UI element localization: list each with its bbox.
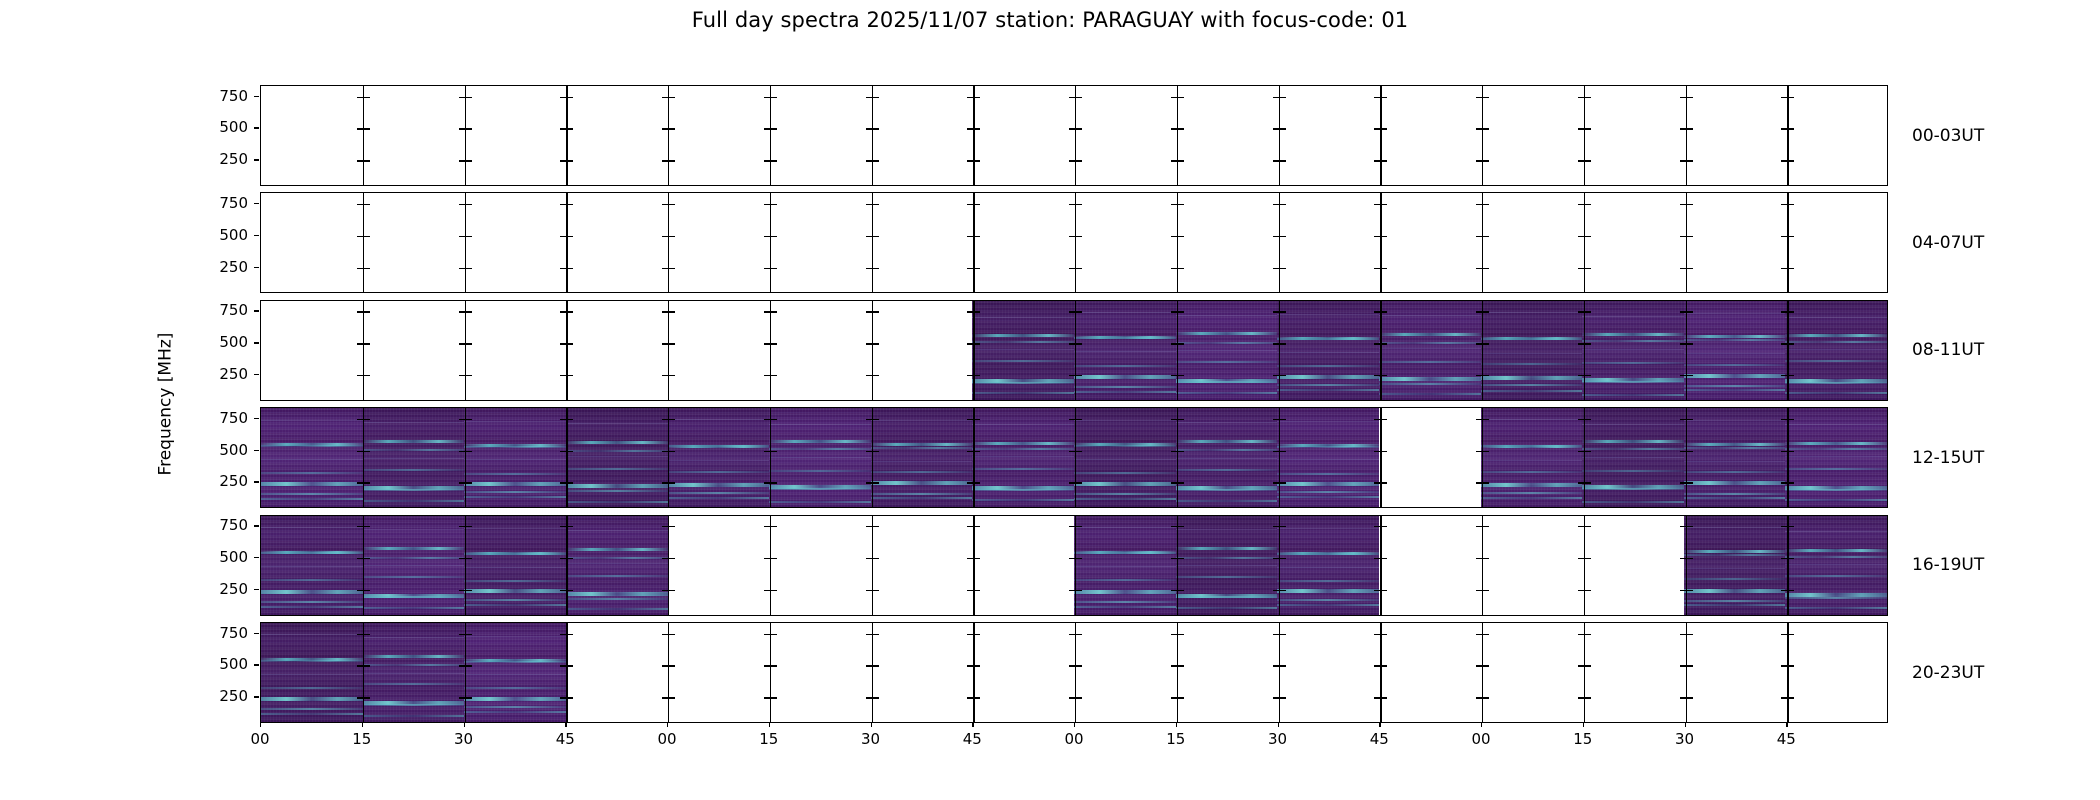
spectra-texture-noise bbox=[769, 408, 871, 507]
y-tick-mark bbox=[1585, 160, 1591, 161]
y-tick-mark bbox=[1585, 697, 1591, 698]
x-tick-label: 00 bbox=[250, 730, 269, 748]
y-tick-mark bbox=[1381, 204, 1387, 205]
spectra-panel bbox=[972, 408, 1074, 507]
panel-separator bbox=[363, 623, 364, 722]
y-tick-mark bbox=[1483, 558, 1489, 559]
spectra-texture-noise bbox=[1074, 516, 1176, 615]
y-tick-mark bbox=[364, 204, 370, 205]
y-tick-mark bbox=[357, 634, 363, 635]
y-tick-mark bbox=[364, 128, 370, 129]
y-tick-mark bbox=[1076, 451, 1082, 452]
y-tick-mark bbox=[1381, 343, 1387, 344]
y-tick-mark bbox=[662, 451, 668, 452]
y-tick-mark bbox=[560, 343, 566, 344]
y-tick-mark bbox=[669, 697, 675, 698]
y-tick-mark bbox=[1680, 697, 1686, 698]
y-tick-mark bbox=[1483, 482, 1489, 483]
y-tick-mark bbox=[1476, 236, 1482, 237]
empty-panel bbox=[1277, 193, 1379, 292]
panel-separator bbox=[1787, 301, 1788, 400]
y-tick-mark bbox=[1273, 451, 1279, 452]
y-tick-label: 250 bbox=[206, 150, 248, 168]
y-tick-mark bbox=[254, 342, 259, 343]
panel-separator bbox=[668, 301, 669, 400]
y-tick-mark bbox=[866, 311, 872, 312]
y-tick-mark bbox=[1781, 236, 1787, 237]
y-tick-mark bbox=[560, 451, 566, 452]
empty-panel bbox=[464, 86, 566, 185]
row-label-08-11ut: 08-11UT bbox=[1912, 340, 1984, 360]
y-tick-mark bbox=[764, 268, 770, 269]
y-tick-mark bbox=[967, 558, 973, 559]
y-tick-mark bbox=[866, 526, 872, 527]
y-tick-mark bbox=[1069, 590, 1075, 591]
y-tick-mark bbox=[466, 697, 472, 698]
spectra-texture-noise bbox=[566, 516, 668, 615]
y-tick-mark bbox=[669, 590, 675, 591]
row-panels bbox=[261, 301, 1887, 400]
y-tick-mark bbox=[1273, 482, 1279, 483]
y-tick-mark bbox=[1178, 97, 1184, 98]
panel-separator bbox=[1177, 408, 1178, 507]
y-tick-mark bbox=[764, 590, 770, 591]
y-tick-mark bbox=[1781, 268, 1787, 269]
y-tick-mark bbox=[1374, 482, 1380, 483]
y-tick-mark bbox=[1578, 697, 1584, 698]
spectra-row-20-23ut bbox=[260, 622, 1888, 723]
panel-separator bbox=[1279, 86, 1280, 185]
panel-separator bbox=[1380, 301, 1381, 400]
y-tick-mark bbox=[1788, 451, 1794, 452]
spectra-panel bbox=[261, 516, 363, 615]
y-tick-mark bbox=[1687, 697, 1693, 698]
y-tick-mark bbox=[364, 665, 370, 666]
panel-separator bbox=[1482, 623, 1483, 722]
y-tick-mark bbox=[764, 697, 770, 698]
y-tick-mark bbox=[357, 590, 363, 591]
panel-separator bbox=[465, 301, 466, 400]
empty-panel bbox=[464, 301, 566, 400]
y-tick-mark bbox=[567, 311, 573, 312]
y-tick-mark bbox=[1171, 311, 1177, 312]
y-tick-mark bbox=[1680, 665, 1686, 666]
y-tick-mark bbox=[1585, 451, 1591, 452]
y-tick-mark bbox=[1381, 236, 1387, 237]
y-tick-mark bbox=[459, 204, 465, 205]
y-tick-mark bbox=[459, 268, 465, 269]
y-tick-mark bbox=[866, 665, 872, 666]
panel-separator bbox=[566, 408, 567, 507]
x-tick-label: 00 bbox=[1471, 730, 1490, 748]
spectra-panel bbox=[1074, 408, 1176, 507]
y-tick-mark bbox=[1483, 343, 1489, 344]
y-tick-mark bbox=[560, 128, 566, 129]
empty-panel bbox=[566, 193, 668, 292]
y-tick-mark bbox=[1076, 665, 1082, 666]
y-tick-mark bbox=[466, 634, 472, 635]
y-tick-mark bbox=[466, 451, 472, 452]
y-tick-mark bbox=[1680, 634, 1686, 635]
spectra-texture-noise bbox=[1176, 516, 1278, 615]
spectra-texture-noise bbox=[261, 623, 363, 722]
y-tick-mark bbox=[1171, 558, 1177, 559]
panel-separator bbox=[973, 516, 974, 615]
spectra-texture-noise bbox=[1785, 408, 1887, 507]
y-tick-mark bbox=[662, 558, 668, 559]
panel-separator bbox=[1787, 408, 1788, 507]
y-tick-mark bbox=[1076, 268, 1082, 269]
y-tick-mark bbox=[254, 481, 259, 482]
x-tick-mark bbox=[1786, 722, 1787, 727]
y-tick-mark bbox=[1374, 665, 1380, 666]
y-tick-mark bbox=[1680, 236, 1686, 237]
empty-panel bbox=[1176, 193, 1278, 292]
spectra-texture-noise bbox=[1074, 408, 1176, 507]
y-tick-mark bbox=[967, 311, 973, 312]
panel-separator bbox=[465, 516, 466, 615]
y-tick-mark bbox=[459, 665, 465, 666]
y-tick-mark bbox=[1178, 311, 1184, 312]
empty-panel bbox=[871, 301, 973, 400]
y-tick-mark bbox=[560, 204, 566, 205]
y-tick-mark bbox=[357, 204, 363, 205]
y-tick-mark bbox=[1280, 128, 1286, 129]
y-tick-mark bbox=[1178, 697, 1184, 698]
y-tick-mark bbox=[1171, 375, 1177, 376]
y-tick-mark bbox=[1069, 204, 1075, 205]
y-tick-mark bbox=[1585, 419, 1591, 420]
y-tick-mark bbox=[967, 697, 973, 698]
panel-separator bbox=[1380, 193, 1381, 292]
panel-separator bbox=[566, 193, 567, 292]
y-tick-mark bbox=[1687, 204, 1693, 205]
y-tick-label: 250 bbox=[206, 687, 248, 705]
y-tick-mark bbox=[1781, 343, 1787, 344]
y-tick-mark bbox=[1069, 665, 1075, 666]
y-tick-mark bbox=[357, 160, 363, 161]
y-tick-mark bbox=[567, 482, 573, 483]
y-tick-mark bbox=[1178, 236, 1184, 237]
y-tick-mark bbox=[254, 633, 259, 634]
y-tick-mark bbox=[974, 419, 980, 420]
y-tick-mark bbox=[1483, 160, 1489, 161]
y-tick-mark bbox=[1483, 128, 1489, 129]
y-tick-mark bbox=[764, 634, 770, 635]
y-tick-mark bbox=[560, 482, 566, 483]
row-label-16-19ut: 16-19UT bbox=[1912, 555, 1984, 575]
y-tick-mark bbox=[873, 236, 879, 237]
y-tick-mark bbox=[1483, 419, 1489, 420]
y-tick-mark bbox=[1788, 268, 1794, 269]
y-tick-mark bbox=[1585, 558, 1591, 559]
y-tick-mark bbox=[662, 268, 668, 269]
y-tick-mark bbox=[771, 590, 777, 591]
y-tick-mark bbox=[1273, 590, 1279, 591]
y-tick-mark bbox=[1578, 419, 1584, 420]
panel-separator bbox=[1787, 623, 1788, 722]
y-tick-mark bbox=[669, 268, 675, 269]
y-tick-mark bbox=[967, 160, 973, 161]
y-tick-mark bbox=[866, 128, 872, 129]
y-axis-title: Frequency [MHz] bbox=[152, 85, 178, 722]
spectra-texture-noise bbox=[1176, 301, 1278, 400]
row-label-12-15ut: 12-15UT bbox=[1912, 448, 1984, 468]
y-tick-mark bbox=[771, 419, 777, 420]
spectra-panel bbox=[1684, 301, 1786, 400]
y-tick-mark bbox=[459, 97, 465, 98]
spectra-panel bbox=[769, 408, 871, 507]
panel-separator bbox=[668, 623, 669, 722]
y-tick-mark bbox=[1280, 375, 1286, 376]
y-tick-mark bbox=[866, 375, 872, 376]
x-tick-label: 45 bbox=[1777, 730, 1796, 748]
y-tick-mark bbox=[1076, 526, 1082, 527]
y-tick-mark bbox=[1687, 268, 1693, 269]
empty-panel bbox=[363, 301, 465, 400]
panel-separator bbox=[1075, 86, 1076, 185]
y-tick-mark bbox=[1578, 375, 1584, 376]
y-tick-mark bbox=[459, 482, 465, 483]
y-tick-mark bbox=[669, 419, 675, 420]
spectra-panel bbox=[1785, 408, 1887, 507]
y-tick-mark bbox=[466, 526, 472, 527]
y-tick-mark bbox=[1476, 419, 1482, 420]
y-tick-mark bbox=[764, 128, 770, 129]
y-tick-mark bbox=[1374, 375, 1380, 376]
y-tick-mark bbox=[1687, 343, 1693, 344]
y-tick-mark bbox=[967, 634, 973, 635]
y-tick-mark bbox=[1273, 128, 1279, 129]
y-tick-mark bbox=[1578, 343, 1584, 344]
y-tick-mark bbox=[866, 697, 872, 698]
y-tick-mark bbox=[357, 128, 363, 129]
y-tick-mark bbox=[873, 590, 879, 591]
panel-separator bbox=[1177, 86, 1178, 185]
x-tick-mark bbox=[972, 722, 973, 727]
y-tick-mark bbox=[771, 451, 777, 452]
panel-separator bbox=[1279, 516, 1280, 615]
y-tick-mark bbox=[1781, 451, 1787, 452]
y-tick-mark bbox=[1687, 590, 1693, 591]
y-tick-mark bbox=[771, 665, 777, 666]
empty-panel bbox=[769, 623, 871, 722]
y-tick-mark bbox=[357, 665, 363, 666]
panel-separator bbox=[363, 408, 364, 507]
y-tick-mark bbox=[459, 419, 465, 420]
panel-separator bbox=[1686, 193, 1687, 292]
y-tick-mark bbox=[1076, 419, 1082, 420]
y-tick-mark bbox=[466, 419, 472, 420]
spectra-row-04-07ut bbox=[260, 192, 1888, 293]
y-tick-mark bbox=[1687, 665, 1693, 666]
y-tick-mark bbox=[1381, 697, 1387, 698]
y-tick-mark bbox=[873, 634, 879, 635]
y-tick-mark bbox=[662, 97, 668, 98]
y-tick-mark bbox=[669, 343, 675, 344]
y-tick-mark bbox=[364, 482, 370, 483]
empty-panel bbox=[1785, 193, 1887, 292]
y-tick-mark bbox=[364, 268, 370, 269]
y-tick-mark bbox=[567, 665, 573, 666]
x-tick-mark bbox=[769, 722, 770, 727]
y-tick-mark bbox=[1476, 128, 1482, 129]
y-tick-mark bbox=[967, 204, 973, 205]
y-tick-label: 500 bbox=[206, 655, 248, 673]
y-tick-mark bbox=[1381, 526, 1387, 527]
y-tick-mark bbox=[1788, 311, 1794, 312]
y-tick-mark bbox=[669, 634, 675, 635]
y-tick-mark bbox=[1476, 482, 1482, 483]
y-tick-mark bbox=[1280, 482, 1286, 483]
y-tick-mark bbox=[1280, 590, 1286, 591]
panel-separator bbox=[1075, 516, 1076, 615]
y-tick-mark bbox=[1788, 634, 1794, 635]
y-tick-mark bbox=[1280, 97, 1286, 98]
y-tick-mark bbox=[1680, 128, 1686, 129]
y-tick-mark bbox=[669, 482, 675, 483]
y-tick-mark bbox=[1788, 375, 1794, 376]
panel-separator bbox=[1177, 301, 1178, 400]
y-tick-mark bbox=[764, 665, 770, 666]
y-tick-mark bbox=[1069, 343, 1075, 344]
y-tick-mark bbox=[669, 526, 675, 527]
spectra-panel bbox=[1684, 408, 1786, 507]
y-tick-mark bbox=[1578, 311, 1584, 312]
y-tick-mark bbox=[1280, 634, 1286, 635]
panel-separator bbox=[1686, 516, 1687, 615]
spectra-texture-noise bbox=[566, 408, 668, 507]
y-tick-mark bbox=[974, 526, 980, 527]
y-tick-mark bbox=[1280, 697, 1286, 698]
empty-panel bbox=[1379, 193, 1481, 292]
panel-separator bbox=[1686, 408, 1687, 507]
y-tick-mark bbox=[1069, 697, 1075, 698]
x-tick-label: 15 bbox=[1166, 730, 1185, 748]
y-tick-mark bbox=[1171, 97, 1177, 98]
y-tick-mark bbox=[254, 96, 259, 97]
panel-separator bbox=[973, 408, 974, 507]
y-tick-mark bbox=[669, 558, 675, 559]
y-tick-mark bbox=[1069, 311, 1075, 312]
y-tick-mark bbox=[364, 697, 370, 698]
y-tick-mark bbox=[1069, 558, 1075, 559]
row-label-04-07ut: 04-07UT bbox=[1912, 233, 1984, 253]
y-tick-mark bbox=[764, 204, 770, 205]
y-tick-mark bbox=[1069, 97, 1075, 98]
y-tick-mark bbox=[567, 128, 573, 129]
y-tick-mark bbox=[1680, 343, 1686, 344]
y-tick-mark bbox=[1171, 160, 1177, 161]
y-tick-mark bbox=[1781, 482, 1787, 483]
y-tick-mark bbox=[1273, 311, 1279, 312]
empty-panel bbox=[972, 516, 1074, 615]
spectra-texture-noise bbox=[464, 623, 566, 722]
empty-panel bbox=[1582, 193, 1684, 292]
y-tick-mark bbox=[1171, 526, 1177, 527]
spectra-panel bbox=[668, 408, 770, 507]
x-tick-mark bbox=[260, 722, 261, 727]
panel-separator bbox=[770, 408, 771, 507]
y-tick-mark bbox=[364, 590, 370, 591]
y-tick-mark bbox=[873, 311, 879, 312]
y-tick-mark bbox=[873, 128, 879, 129]
spectra-row-00-03ut bbox=[260, 85, 1888, 186]
panel-separator bbox=[1380, 623, 1381, 722]
y-tick-mark bbox=[254, 557, 259, 558]
y-tick-mark bbox=[1076, 311, 1082, 312]
y-tick-mark bbox=[1178, 343, 1184, 344]
y-tick-mark bbox=[974, 375, 980, 376]
y-tick-mark bbox=[974, 558, 980, 559]
y-tick-mark bbox=[567, 697, 573, 698]
y-tick-mark bbox=[357, 375, 363, 376]
x-tick-label: 30 bbox=[1675, 730, 1694, 748]
y-tick-mark bbox=[459, 634, 465, 635]
y-tick-mark bbox=[669, 375, 675, 376]
y-tick-mark bbox=[364, 236, 370, 237]
empty-panel bbox=[1277, 86, 1379, 185]
empty-panel bbox=[1684, 86, 1786, 185]
y-tick-mark bbox=[1585, 311, 1591, 312]
y-tick-mark bbox=[1076, 634, 1082, 635]
y-tick-mark bbox=[974, 204, 980, 205]
y-tick-mark bbox=[1171, 451, 1177, 452]
empty-panel bbox=[972, 623, 1074, 722]
y-tick-mark bbox=[364, 634, 370, 635]
x-tick-mark bbox=[1074, 722, 1075, 727]
y-tick-mark bbox=[1483, 236, 1489, 237]
y-tick-mark bbox=[1585, 526, 1591, 527]
y-tick-mark bbox=[1788, 419, 1794, 420]
y-tick-mark bbox=[662, 419, 668, 420]
y-tick-mark bbox=[1069, 482, 1075, 483]
y-tick-mark bbox=[560, 697, 566, 698]
y-tick-mark bbox=[1280, 160, 1286, 161]
y-tick-mark bbox=[866, 451, 872, 452]
row-label-20-23ut: 20-23UT bbox=[1912, 663, 1984, 683]
y-tick-mark bbox=[1076, 343, 1082, 344]
y-tick-mark bbox=[1687, 558, 1693, 559]
y-tick-mark bbox=[1374, 160, 1380, 161]
y-tick-mark bbox=[1374, 128, 1380, 129]
y-tick-mark bbox=[873, 375, 879, 376]
spectra-texture-noise bbox=[1277, 408, 1379, 507]
row-label-00-03ut: 00-03UT bbox=[1912, 126, 1984, 146]
y-tick-mark bbox=[764, 160, 770, 161]
spectra-texture-noise bbox=[464, 408, 566, 507]
y-tick-mark bbox=[1374, 451, 1380, 452]
y-tick-mark bbox=[567, 160, 573, 161]
spectra-panel bbox=[1582, 301, 1684, 400]
x-tick-mark bbox=[362, 722, 363, 727]
y-tick-mark bbox=[771, 343, 777, 344]
y-tick-mark bbox=[662, 128, 668, 129]
empty-panel bbox=[1379, 516, 1481, 615]
x-tick-mark bbox=[1583, 722, 1584, 727]
spectra-panel bbox=[1379, 301, 1481, 400]
y-tick-mark bbox=[1178, 482, 1184, 483]
y-tick-mark bbox=[1585, 343, 1591, 344]
y-tick-mark bbox=[466, 204, 472, 205]
row-panels bbox=[261, 86, 1887, 185]
y-tick-mark bbox=[1578, 482, 1584, 483]
y-tick-mark bbox=[1476, 665, 1482, 666]
spectra-row-16-19ut bbox=[260, 515, 1888, 616]
y-tick-mark bbox=[873, 268, 879, 269]
y-tick-mark bbox=[967, 590, 973, 591]
y-tick-label: 500 bbox=[206, 118, 248, 136]
